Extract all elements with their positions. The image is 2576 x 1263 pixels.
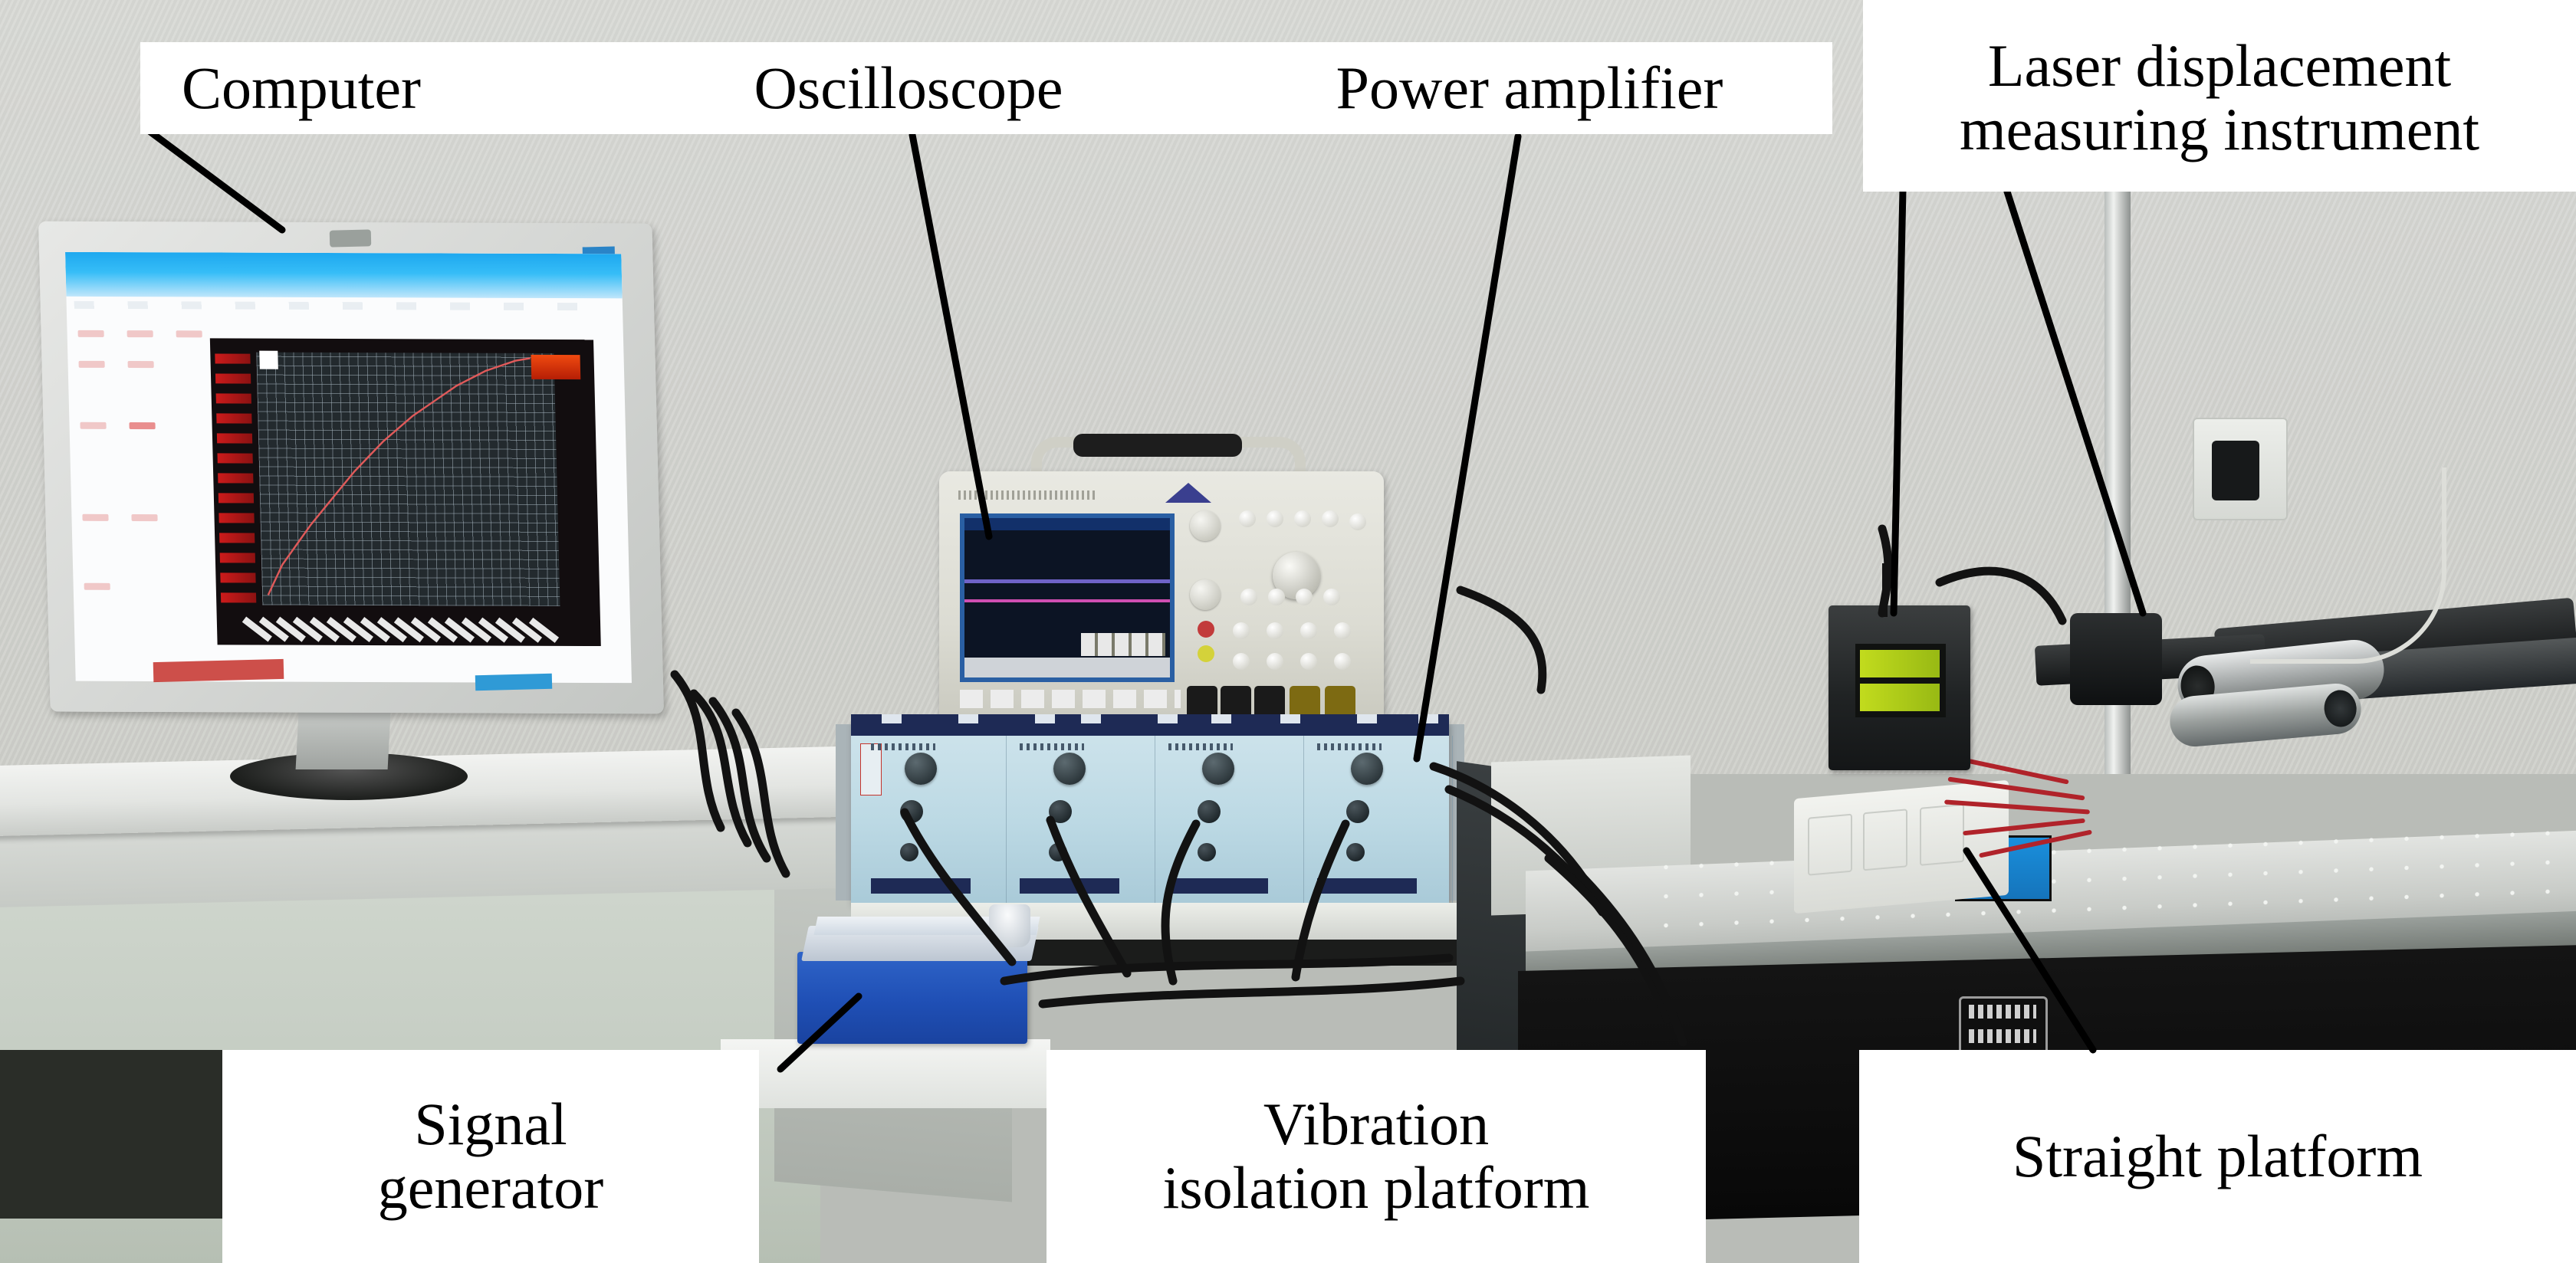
laser-controller-cable xyxy=(1882,563,1888,617)
label-straight-platform: Straight platform xyxy=(1859,1056,2576,1257)
laser-post-clamp xyxy=(2070,613,2162,705)
plot-x-tick-labels xyxy=(262,607,560,643)
monitor-sticker xyxy=(153,659,284,682)
oscilloscope-display xyxy=(960,513,1175,682)
amplifier-channel-module[interactable] xyxy=(857,736,1007,903)
label-oscilloscope-text: Oscilloscope xyxy=(754,57,1063,120)
oscilloscope-control-panel[interactable] xyxy=(1187,506,1378,682)
label-computer-text: Computer xyxy=(182,57,421,120)
monitor-power-strip-sticker xyxy=(475,674,552,691)
plot-cursor-marker xyxy=(259,351,278,369)
amplifier-gain-knob[interactable] xyxy=(1351,753,1383,785)
label-power-amplifier-text: Power amplifier xyxy=(1336,57,1723,120)
vibration-isolation-platform xyxy=(721,1039,1050,1108)
amplifier-output-jack[interactable] xyxy=(1346,800,1369,823)
amplifier-channel-tag xyxy=(1020,878,1119,894)
amplifier-input-jack[interactable] xyxy=(1198,843,1216,861)
label-laser-displacement-text: Laser displacement measuring instrument xyxy=(1960,34,2479,161)
plug-cable xyxy=(2250,467,2446,664)
label-laser-displacement: Laser displacement measuring instrument xyxy=(1863,4,2576,192)
oscilloscope-handle-grip xyxy=(1073,434,1242,457)
power-amplifier-top-rail xyxy=(851,714,1449,736)
label-power-amplifier: Power amplifier xyxy=(1227,42,1832,134)
label-signal-generator: Signal generator xyxy=(222,1056,759,1257)
amplifier-gain-knob[interactable] xyxy=(1053,753,1086,785)
amplifier-gain-knob[interactable] xyxy=(1202,753,1234,785)
amplifier-channel-tag xyxy=(1168,878,1268,894)
amplifier-gain-knob[interactable] xyxy=(905,753,937,785)
oscilloscope-display-menu xyxy=(1081,633,1165,656)
acquisition-plot xyxy=(210,338,601,646)
amplifier-channel-module[interactable] xyxy=(1155,736,1304,903)
amplifier-channel-module[interactable] xyxy=(1303,736,1453,903)
oscilloscope-waveform-ch1 xyxy=(964,579,1170,583)
oscilloscope-softkey-row[interactable] xyxy=(960,690,1181,708)
amplifier-output-jack[interactable] xyxy=(900,800,923,823)
label-oscilloscope: Oscilloscope xyxy=(690,42,1127,134)
plot-legend-swatch xyxy=(531,355,580,379)
monitor-screen xyxy=(65,252,632,683)
label-signal-generator-text: Signal generator xyxy=(378,1093,603,1219)
oscilloscope-waveform-ch2 xyxy=(964,599,1170,602)
amplifier-output-jack[interactable] xyxy=(1198,800,1221,823)
oscilloscope-brand-text xyxy=(958,490,1096,500)
oscilloscope-display-topbar xyxy=(964,518,1170,530)
platform-brand-logo xyxy=(1959,996,2048,1058)
amplifier-input-jack[interactable] xyxy=(900,843,918,861)
label-computer: Computer xyxy=(140,42,462,134)
plot-trace xyxy=(256,353,560,606)
plot-y-tick-labels xyxy=(215,353,259,605)
software-title-bar xyxy=(65,252,623,299)
monitor-logo xyxy=(330,229,372,247)
laser-controller-lcd xyxy=(1855,644,1946,717)
amplifier-channel-module[interactable] xyxy=(1006,736,1155,903)
software-side-fields xyxy=(77,323,216,652)
signal-generator-knob[interactable] xyxy=(989,904,1030,947)
amplifier-input-jack[interactable] xyxy=(1049,843,1067,861)
label-vibration-isolation: Vibration isolation platform xyxy=(1046,1056,1706,1257)
amplifier-channel-tag xyxy=(871,878,971,894)
software-toolbar xyxy=(74,301,609,310)
amplifier-output-jack[interactable] xyxy=(1049,800,1072,823)
oscilloscope-logo-icon xyxy=(1165,483,1211,503)
signal-generator-body xyxy=(797,952,1027,1044)
red-wire-bundle xyxy=(1940,751,2170,874)
amplifier-channel-tag xyxy=(1317,878,1417,894)
figure-root: Computer Oscilloscope Power amplifier La… xyxy=(0,0,2576,1263)
label-straight-platform-text: Straight platform xyxy=(2013,1125,2423,1189)
oscilloscope-display-statusbar xyxy=(964,658,1170,677)
label-vibration-isolation-text: Vibration isolation platform xyxy=(1163,1093,1590,1219)
amplifier-input-jack[interactable] xyxy=(1346,843,1365,861)
